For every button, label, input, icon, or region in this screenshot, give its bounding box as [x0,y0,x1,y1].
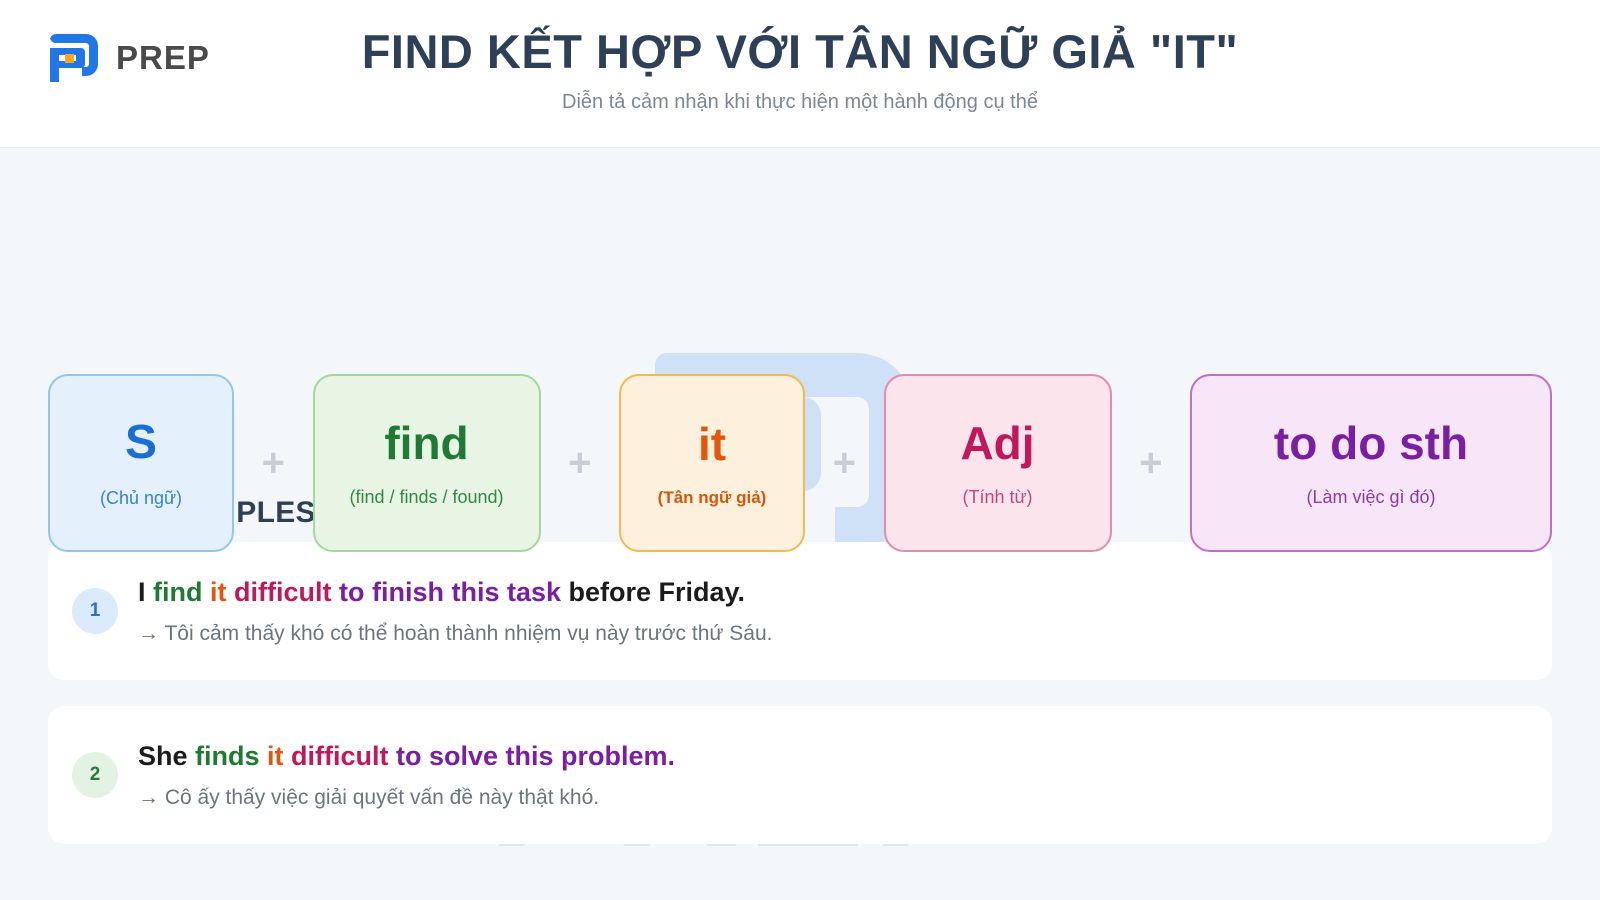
page-body: PREP S (Chủ ngữ) + find (find / finds / … [0,148,1600,900]
example-text-block: I find it difficult to finish this task … [138,576,773,646]
brand-name: PREP [116,39,210,77]
sentence-part-verb: finds [195,741,267,771]
example-translation-vi: → Tôi cảm thấy khó có thể hoàn thành nhi… [138,621,773,646]
plus-separator-2: + [553,443,607,483]
formula-term: S [125,419,157,467]
infographic-page: PREP FIND KẾT HỢP VỚI TÂN NGỮ GIẢ "IT" D… [0,0,1600,900]
formula-box-it: it (Tân ngữ giả) [619,374,805,552]
plus-separator-1: + [246,443,300,483]
example-translation-vi: → Cô ấy thấy việc giải quyết vấn đề này … [138,785,675,810]
sentence-part-subject: She [138,741,195,771]
example-number-badge: 2 [72,752,118,798]
page-header: PREP FIND KẾT HỢP VỚI TÂN NGỮ GIẢ "IT" D… [0,0,1600,148]
sentence-part-to-do: to solve this problem. [396,741,675,771]
formula-subtext: (Tân ngữ giả) [658,489,767,506]
sentence-part-subject: I [138,577,153,607]
page-subtitle: Diễn tả cảm nhận khi thực hiện một hành … [300,91,1300,114]
formula-term: Adj [960,420,1034,466]
page-title: FIND KẾT HỢP VỚI TÂN NGỮ GIẢ "IT" [300,26,1300,79]
plus-separator-3: + [817,443,871,483]
brand-lockup: PREP [46,30,210,86]
formula-box-find: find (find / finds / found) [313,374,541,552]
prep-logo-icon [46,30,102,86]
plus-separator-4: + [1124,443,1178,483]
example-text-block: She finds it difficult to solve this pro… [138,740,675,810]
formula-term: it [698,421,726,467]
example-sentence-en: She finds it difficult to solve this pro… [138,740,675,772]
formula-term: to do sth [1274,420,1468,466]
sentence-part-to-do: to finish this task [339,577,561,607]
formula-subtext: (Tính từ) [962,488,1032,506]
formula-box-to-do-sth: to do sth (Làm việc gì đó) [1190,374,1552,552]
formula-box-subject: S (Chủ ngữ) [48,374,234,552]
formula-subtext: (find / finds / found) [349,488,503,506]
formula-subtext: (Làm việc gì đó) [1306,488,1435,506]
example-number-badge: 1 [72,588,118,634]
formula-term: find [384,420,468,466]
sentence-part-tail: before Friday. [561,577,745,607]
sentence-part-verb: find [153,577,210,607]
example-card: 2 She finds it difficult to solve this p… [48,706,1552,844]
example-card: 1 I find it difficult to finish this tas… [48,542,1552,680]
sentence-part-it: it [267,741,291,771]
sentence-part-adj: difficult [234,577,339,607]
example-sentence-en: I find it difficult to finish this task … [138,576,773,608]
title-block: FIND KẾT HỢP VỚI TÂN NGỮ GIẢ "IT" Diễn t… [300,26,1300,114]
formula-box-adj: Adj (Tính từ) [884,374,1112,552]
formula-subtext: (Chủ ngữ) [100,489,182,507]
sentence-part-it: it [210,577,234,607]
sentence-part-adj: difficult [291,741,396,771]
